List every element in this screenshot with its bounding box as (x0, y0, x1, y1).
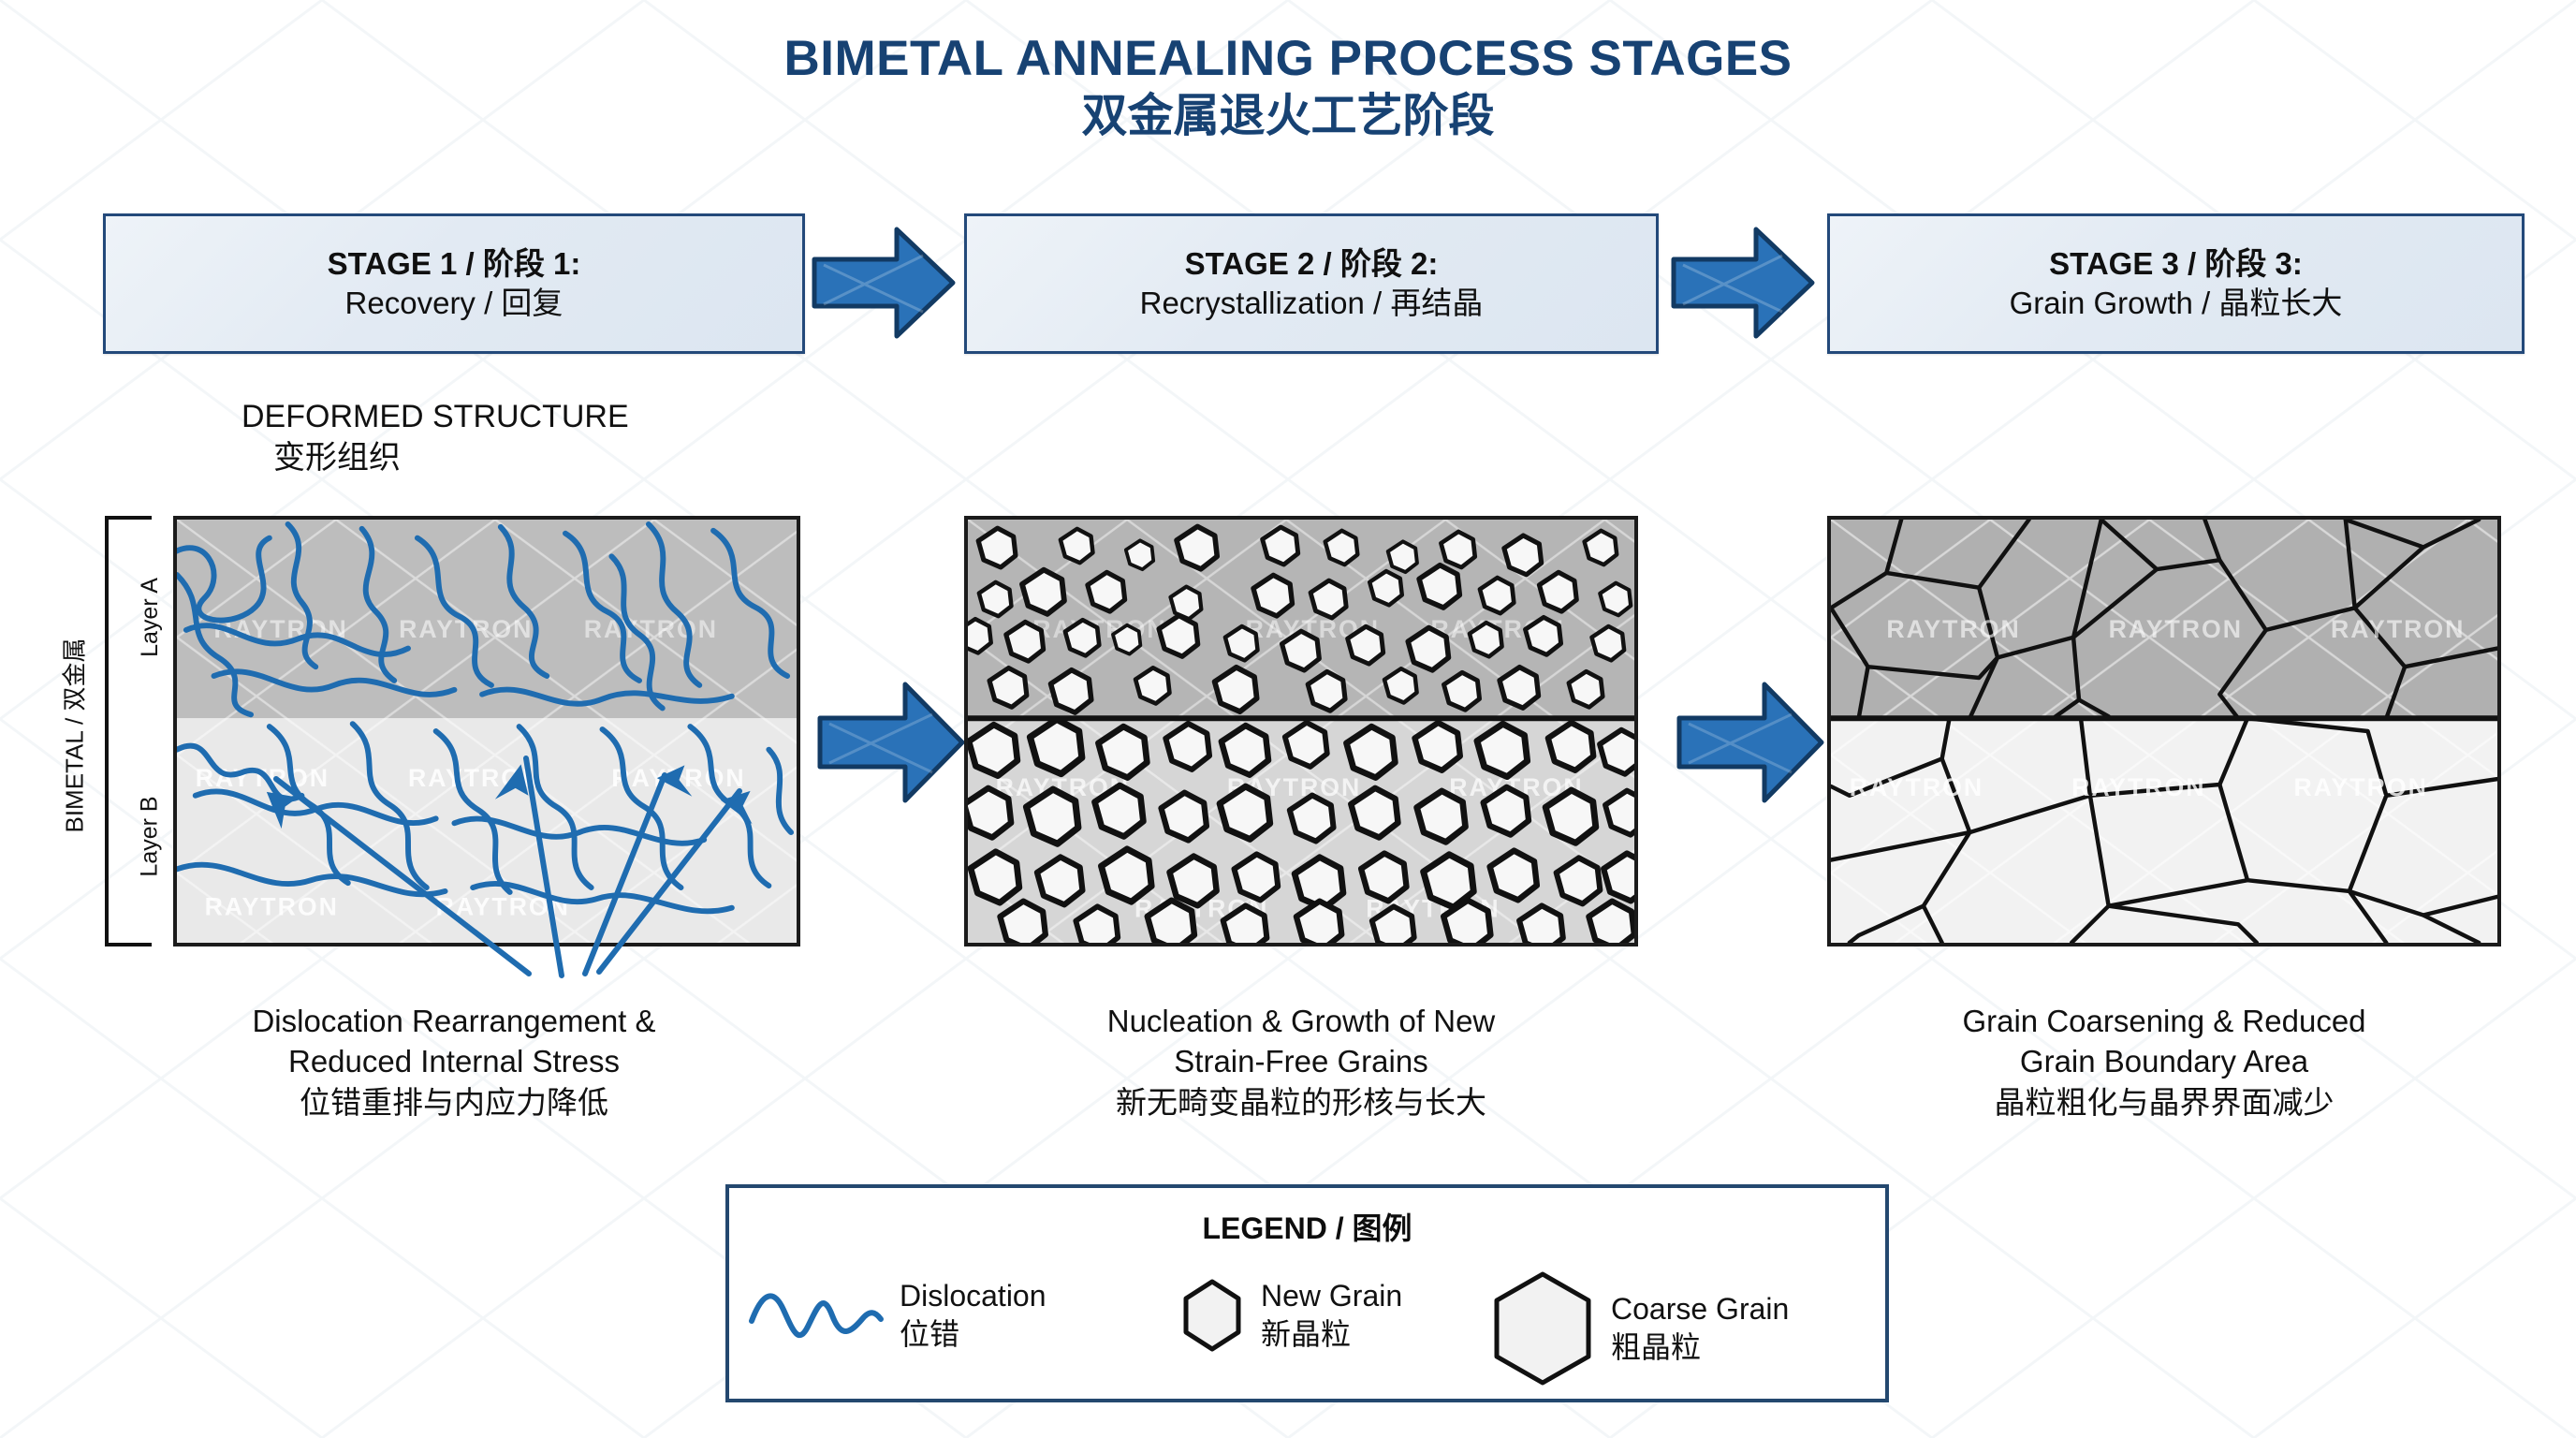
deformed-structure-label: DEFORMED STRUCTURE 变形组织 (241, 397, 629, 478)
caption-3-zh: 晶粒粗化与晶界界面减少 (1827, 1082, 2501, 1124)
small-hexagon-icon (1177, 1274, 1248, 1357)
layer-b-text: Layer B (137, 796, 164, 876)
svg-text:RAYTRON: RAYTRON (1886, 615, 2020, 643)
flow-arrow-1-to-2 (816, 677, 966, 808)
stage-3-subtitle: Grain Growth / 晶粒长大 (2010, 284, 2343, 322)
legend-item-coarse-grain[interactable]: Coarse Grain 粗晶粒 (1487, 1269, 1789, 1388)
page-title: BIMETAL ANNEALING PROCESS STAGES 双金属退火工艺… (0, 32, 2576, 144)
stage-header-1[interactable]: STAGE 1 / 阶段 1: Recovery / 回复 (103, 213, 805, 354)
title-english: BIMETAL ANNEALING PROCESS STAGES (0, 32, 2576, 85)
bimetal-axis-text: BIMETAL / 双金属 (56, 638, 91, 832)
layer-a-tag: Layer A (131, 516, 168, 718)
caption-3-en-line2: Grain Boundary Area (1827, 1042, 2501, 1082)
deformed-structure-zh: 变形组织 (273, 437, 629, 478)
svg-text:RAYTRON: RAYTRON (2331, 615, 2465, 643)
legend-coarse-grain-text: Coarse Grain 粗晶粒 (1611, 1291, 1789, 1365)
legend-coarse-grain-zh: 粗晶粒 (1611, 1330, 1701, 1364)
legend-coarse-grain-en: Coarse Grain (1611, 1292, 1789, 1326)
stage-header-3[interactable]: STAGE 3 / 阶段 3: Grain Growth / 晶粒长大 (1827, 213, 2525, 354)
legend-new-grain-zh: 新晶粒 (1261, 1317, 1351, 1351)
legend-dislocation-text: Dislocation 位错 (900, 1278, 1046, 1352)
stage-2-title: STAGE 2 / 阶段 2: (1185, 245, 1439, 283)
svg-text:RAYTRON: RAYTRON (584, 615, 718, 643)
legend-title: LEGEND / 图例 (729, 1205, 1885, 1248)
diagram-root: BIMETAL ANNEALING PROCESS STAGES 双金属退火工艺… (0, 0, 2576, 1438)
flow-arrow-2-to-3 (1676, 677, 1825, 808)
header-arrow-1-to-2 (811, 222, 957, 344)
legend-new-grain-en: New Grain (1261, 1279, 1402, 1313)
caption-2-zh: 新无畸变晶粒的形核与长大 (964, 1082, 1638, 1124)
legend-item-dislocation[interactable]: Dislocation 位错 (746, 1274, 1046, 1357)
caption-2-en-line2: Strain-Free Grains (964, 1042, 1638, 1082)
stage-2-subtitle: Recrystallization / 再结晶 (1140, 284, 1484, 322)
legend-dislocation-en: Dislocation (900, 1279, 1046, 1313)
caption-stage-3: Grain Coarsening & Reduced Grain Boundar… (1827, 1002, 2501, 1123)
header-arrow-2-to-3 (1670, 222, 1816, 344)
dislocation-squiggle-icon (746, 1274, 886, 1357)
stage-3-title: STAGE 3 / 阶段 3: (2049, 245, 2303, 283)
legend-dislocation-zh: 位错 (900, 1317, 959, 1351)
caption-stage-2: Nucleation & Growth of New Strain-Free G… (964, 1002, 1638, 1123)
deformed-structure-en: DEFORMED STRUCTURE (241, 397, 629, 437)
caption-2-en-line1: Nucleation & Growth of New (964, 1002, 1638, 1042)
microstructure-panel-stage-1: RAYTRON RAYTRON RAYTRON RAYTRON RAYTRON … (173, 516, 800, 946)
large-hexagon-icon (1487, 1269, 1598, 1388)
layer-b-tag: Layer B (131, 726, 168, 946)
svg-text:RAYTRON: RAYTRON (2109, 615, 2243, 643)
bimetal-axis-label: BIMETAL / 双金属 (51, 524, 95, 946)
caption-stage-1: Dislocation Rearrangement & Reduced Inte… (103, 1002, 805, 1123)
layer-a-text: Layer A (137, 578, 164, 657)
stage-header-2[interactable]: STAGE 2 / 阶段 2: Recrystallization / 再结晶 (964, 213, 1659, 354)
legend-items-row: Dislocation 位错 New Grain 新晶粒 (729, 1263, 1885, 1394)
legend-new-grain-text: New Grain 新晶粒 (1261, 1278, 1402, 1352)
svg-text:RAYTRON: RAYTRON (2071, 773, 2205, 801)
stage-1-title: STAGE 1 / 阶段 1: (328, 245, 581, 283)
svg-text:RAYTRON: RAYTRON (2293, 773, 2427, 801)
stage-1-subtitle: Recovery / 回复 (345, 284, 563, 322)
legend-item-new-grain[interactable]: New Grain 新晶粒 (1177, 1274, 1402, 1357)
svg-text:RAYTRON: RAYTRON (205, 893, 339, 921)
microstructure-panel-stage-2: RAYTRON RAYTRON RAYTRON RAYTRON RAYTRON … (964, 516, 1638, 946)
title-chinese: 双金属退火工艺阶段 (0, 89, 2576, 144)
caption-1-en-line2: Reduced Internal Stress (103, 1042, 805, 1082)
caption-1-en-line1: Dislocation Rearrangement & (103, 1002, 805, 1042)
microstructure-panel-stage-3: RAYTRON RAYTRON RAYTRON RAYTRON RAYTRON … (1827, 516, 2501, 946)
svg-text:RAYTRON: RAYTRON (1850, 773, 1983, 801)
caption-1-zh: 位错重排与内应力降低 (103, 1082, 805, 1124)
caption-3-en-line1: Grain Coarsening & Reduced (1827, 1002, 2501, 1042)
legend-box: LEGEND / 图例 Dislocation 位错 (725, 1184, 1889, 1402)
